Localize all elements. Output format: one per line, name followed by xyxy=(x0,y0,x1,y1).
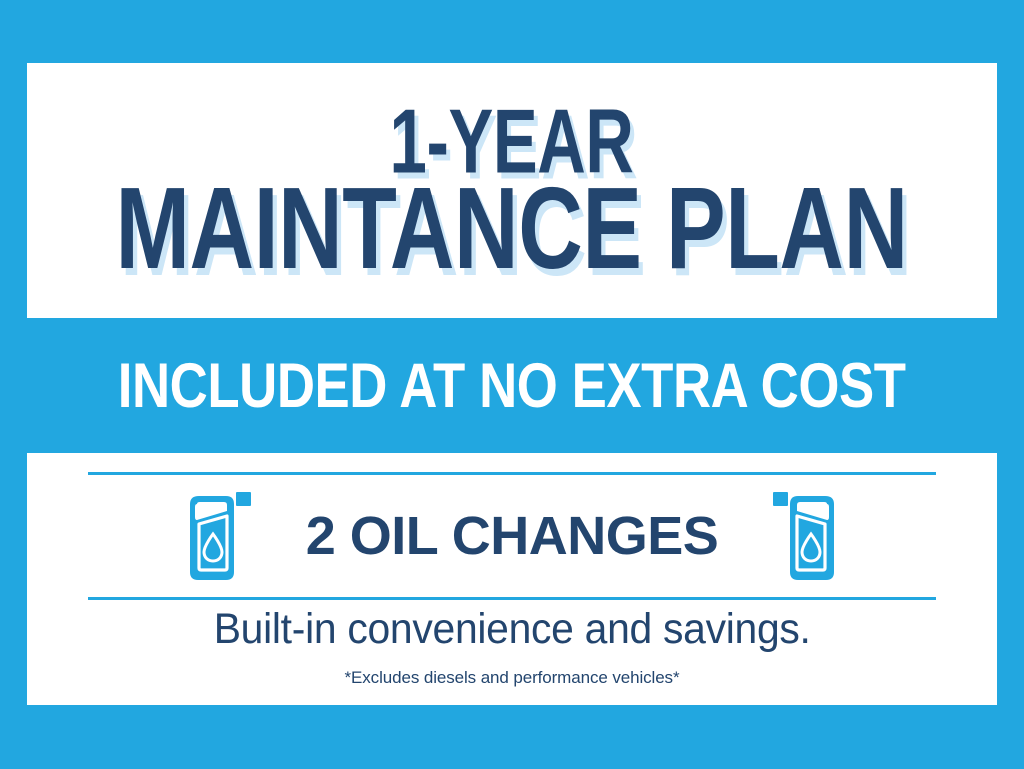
oil-can-icon xyxy=(182,490,254,582)
subheadline-text: INCLUDED AT NO EXTRA COST xyxy=(118,349,906,421)
footnote-disclaimer: *Excludes diesels and performance vehicl… xyxy=(27,668,997,688)
promo-poster: 1-YEAR MAINTANCE PLAN INCLUDED AT NO EXT… xyxy=(0,0,1024,769)
tagline-text: Built-in convenience and savings. xyxy=(214,605,811,654)
divider-bottom xyxy=(88,597,936,600)
oil-change-label: 2 OIL CHANGES xyxy=(306,505,719,567)
headline-card: 1-YEAR MAINTANCE PLAN xyxy=(27,63,997,318)
subheadline-band: INCLUDED AT NO EXTRA COST xyxy=(27,318,997,453)
details-card: 2 OIL CHANGES Built-in convenience and s… xyxy=(27,453,997,705)
oil-change-row: 2 OIL CHANGES xyxy=(27,475,997,597)
tagline: Built-in convenience and savings. xyxy=(27,605,997,654)
oil-can-icon xyxy=(770,490,842,582)
headline-line-2: MAINTANCE PLAN xyxy=(116,177,908,284)
